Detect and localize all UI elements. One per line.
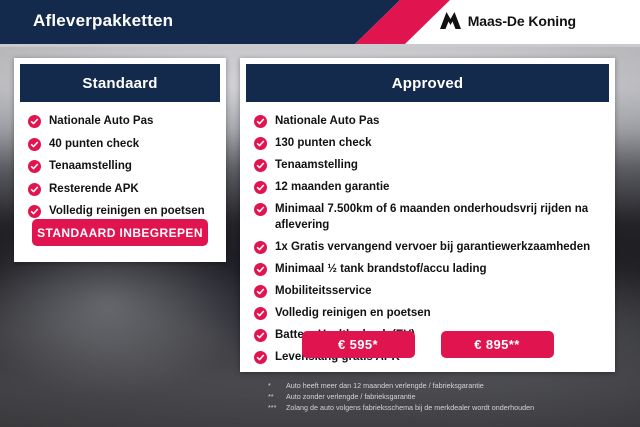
list-item: 12 maanden garantie <box>254 180 615 196</box>
maas-de-koning-logo-icon <box>440 12 461 29</box>
list-item: Volledig reinigen en poetsen <box>28 204 226 220</box>
list-item: Volledig reinigen en poetsen <box>254 306 615 322</box>
list-item: Nationale Auto Pas <box>28 114 226 130</box>
list-item: Mobiliteitsservice <box>254 284 615 300</box>
footnote-text: Auto zonder verlengde / fabrieksgarantie <box>286 391 415 402</box>
list-item-label: Minimaal 7.500km of 6 maanden onderhouds… <box>275 202 605 233</box>
list-item-label: Volledig reinigen en poetsen <box>275 306 431 322</box>
list-item: Tenaamstelling <box>254 158 615 174</box>
list-item: Resterende APK <box>28 182 226 198</box>
check-circle-icon <box>254 241 267 254</box>
list-item: Minimaal ½ tank brandstof/accu lading <box>254 262 615 278</box>
list-item: 1x Gratis vervangend vervoer bij garanti… <box>254 240 615 256</box>
list-item-label: Tenaamstelling <box>275 158 358 174</box>
list-item: 40 punten check <box>28 137 226 153</box>
footnote-row: * Auto heeft meer dan 12 maanden verleng… <box>268 380 628 391</box>
package-card-approved: Approved Nationale Auto Pas 130 punten c… <box>240 58 615 372</box>
check-circle-icon <box>254 263 267 276</box>
check-circle-icon <box>28 115 41 128</box>
check-circle-icon <box>254 159 267 172</box>
list-item-label: Resterende APK <box>49 182 139 198</box>
list-item-label: Volledig reinigen en poetsen <box>49 204 205 220</box>
list-item: Nationale Auto Pas <box>254 114 615 130</box>
price-button-595[interactable]: € 595* <box>302 331 415 358</box>
page-title: Afleverpakketten <box>33 11 173 31</box>
check-circle-icon <box>254 285 267 298</box>
footnote-text: Auto heeft meer dan 12 maanden verlengde… <box>286 380 484 391</box>
list-item: Minimaal 7.500km of 6 maanden onderhouds… <box>254 202 615 233</box>
list-item-label: 130 punten check <box>275 136 372 152</box>
footnote-marker: ** <box>268 391 286 402</box>
list-item-label: Mobiliteitsservice <box>275 284 372 300</box>
page-header: Afleverpakketten Maas-De Koning <box>0 0 640 44</box>
price-button-895[interactable]: € 895** <box>441 331 554 358</box>
footnote-row: *** Zolang de auto volgens fabrieksschem… <box>268 402 628 413</box>
check-circle-icon <box>254 181 267 194</box>
check-circle-icon <box>28 183 41 196</box>
footnote-marker: *** <box>268 402 286 413</box>
check-circle-icon <box>254 307 267 320</box>
list-item-label: 40 punten check <box>49 137 139 153</box>
footnote-marker: * <box>268 380 286 391</box>
list-item-label: Nationale Auto Pas <box>275 114 379 130</box>
list-item-label: Minimaal ½ tank brandstof/accu lading <box>275 262 487 278</box>
brand-name: Maas-De Koning <box>468 13 576 29</box>
standaard-feature-list: Nationale Auto Pas 40 punten check Tenaa… <box>28 114 226 220</box>
price-button-row: € 595* € 895** <box>240 331 615 358</box>
approved-feature-list: Nationale Auto Pas 130 punten check Tena… <box>254 114 615 365</box>
footnote-block: * Auto heeft meer dan 12 maanden verleng… <box>268 380 628 413</box>
brand-lockup: Maas-De Koning <box>440 12 576 29</box>
header-underline <box>0 44 640 47</box>
standaard-inbegrepen-button[interactable]: STANDAARD INBEGREPEN <box>32 219 208 246</box>
slide-canvas: Afleverpakketten Maas-De Koning Standaar… <box>0 0 640 427</box>
check-circle-icon <box>28 160 41 173</box>
check-circle-icon <box>28 205 41 218</box>
check-circle-icon <box>28 138 41 151</box>
check-circle-icon <box>254 203 267 216</box>
check-circle-icon <box>254 115 267 128</box>
list-item-label: 1x Gratis vervangend vervoer bij garanti… <box>275 240 590 256</box>
check-circle-icon <box>254 137 267 150</box>
standaard-heading: Standaard <box>20 64 220 102</box>
list-item-label: Nationale Auto Pas <box>49 114 153 130</box>
footnote-row: ** Auto zonder verlengde / fabrieksgaran… <box>268 391 628 402</box>
package-card-standaard: Standaard Nationale Auto Pas 40 punten c… <box>14 58 226 262</box>
list-item: 130 punten check <box>254 136 615 152</box>
approved-heading: Approved <box>246 64 609 102</box>
footnote-text: Zolang de auto volgens fabrieksschema bi… <box>286 402 534 413</box>
list-item-label: 12 maanden garantie <box>275 180 389 196</box>
list-item: Tenaamstelling <box>28 159 226 175</box>
list-item-label: Tenaamstelling <box>49 159 132 175</box>
